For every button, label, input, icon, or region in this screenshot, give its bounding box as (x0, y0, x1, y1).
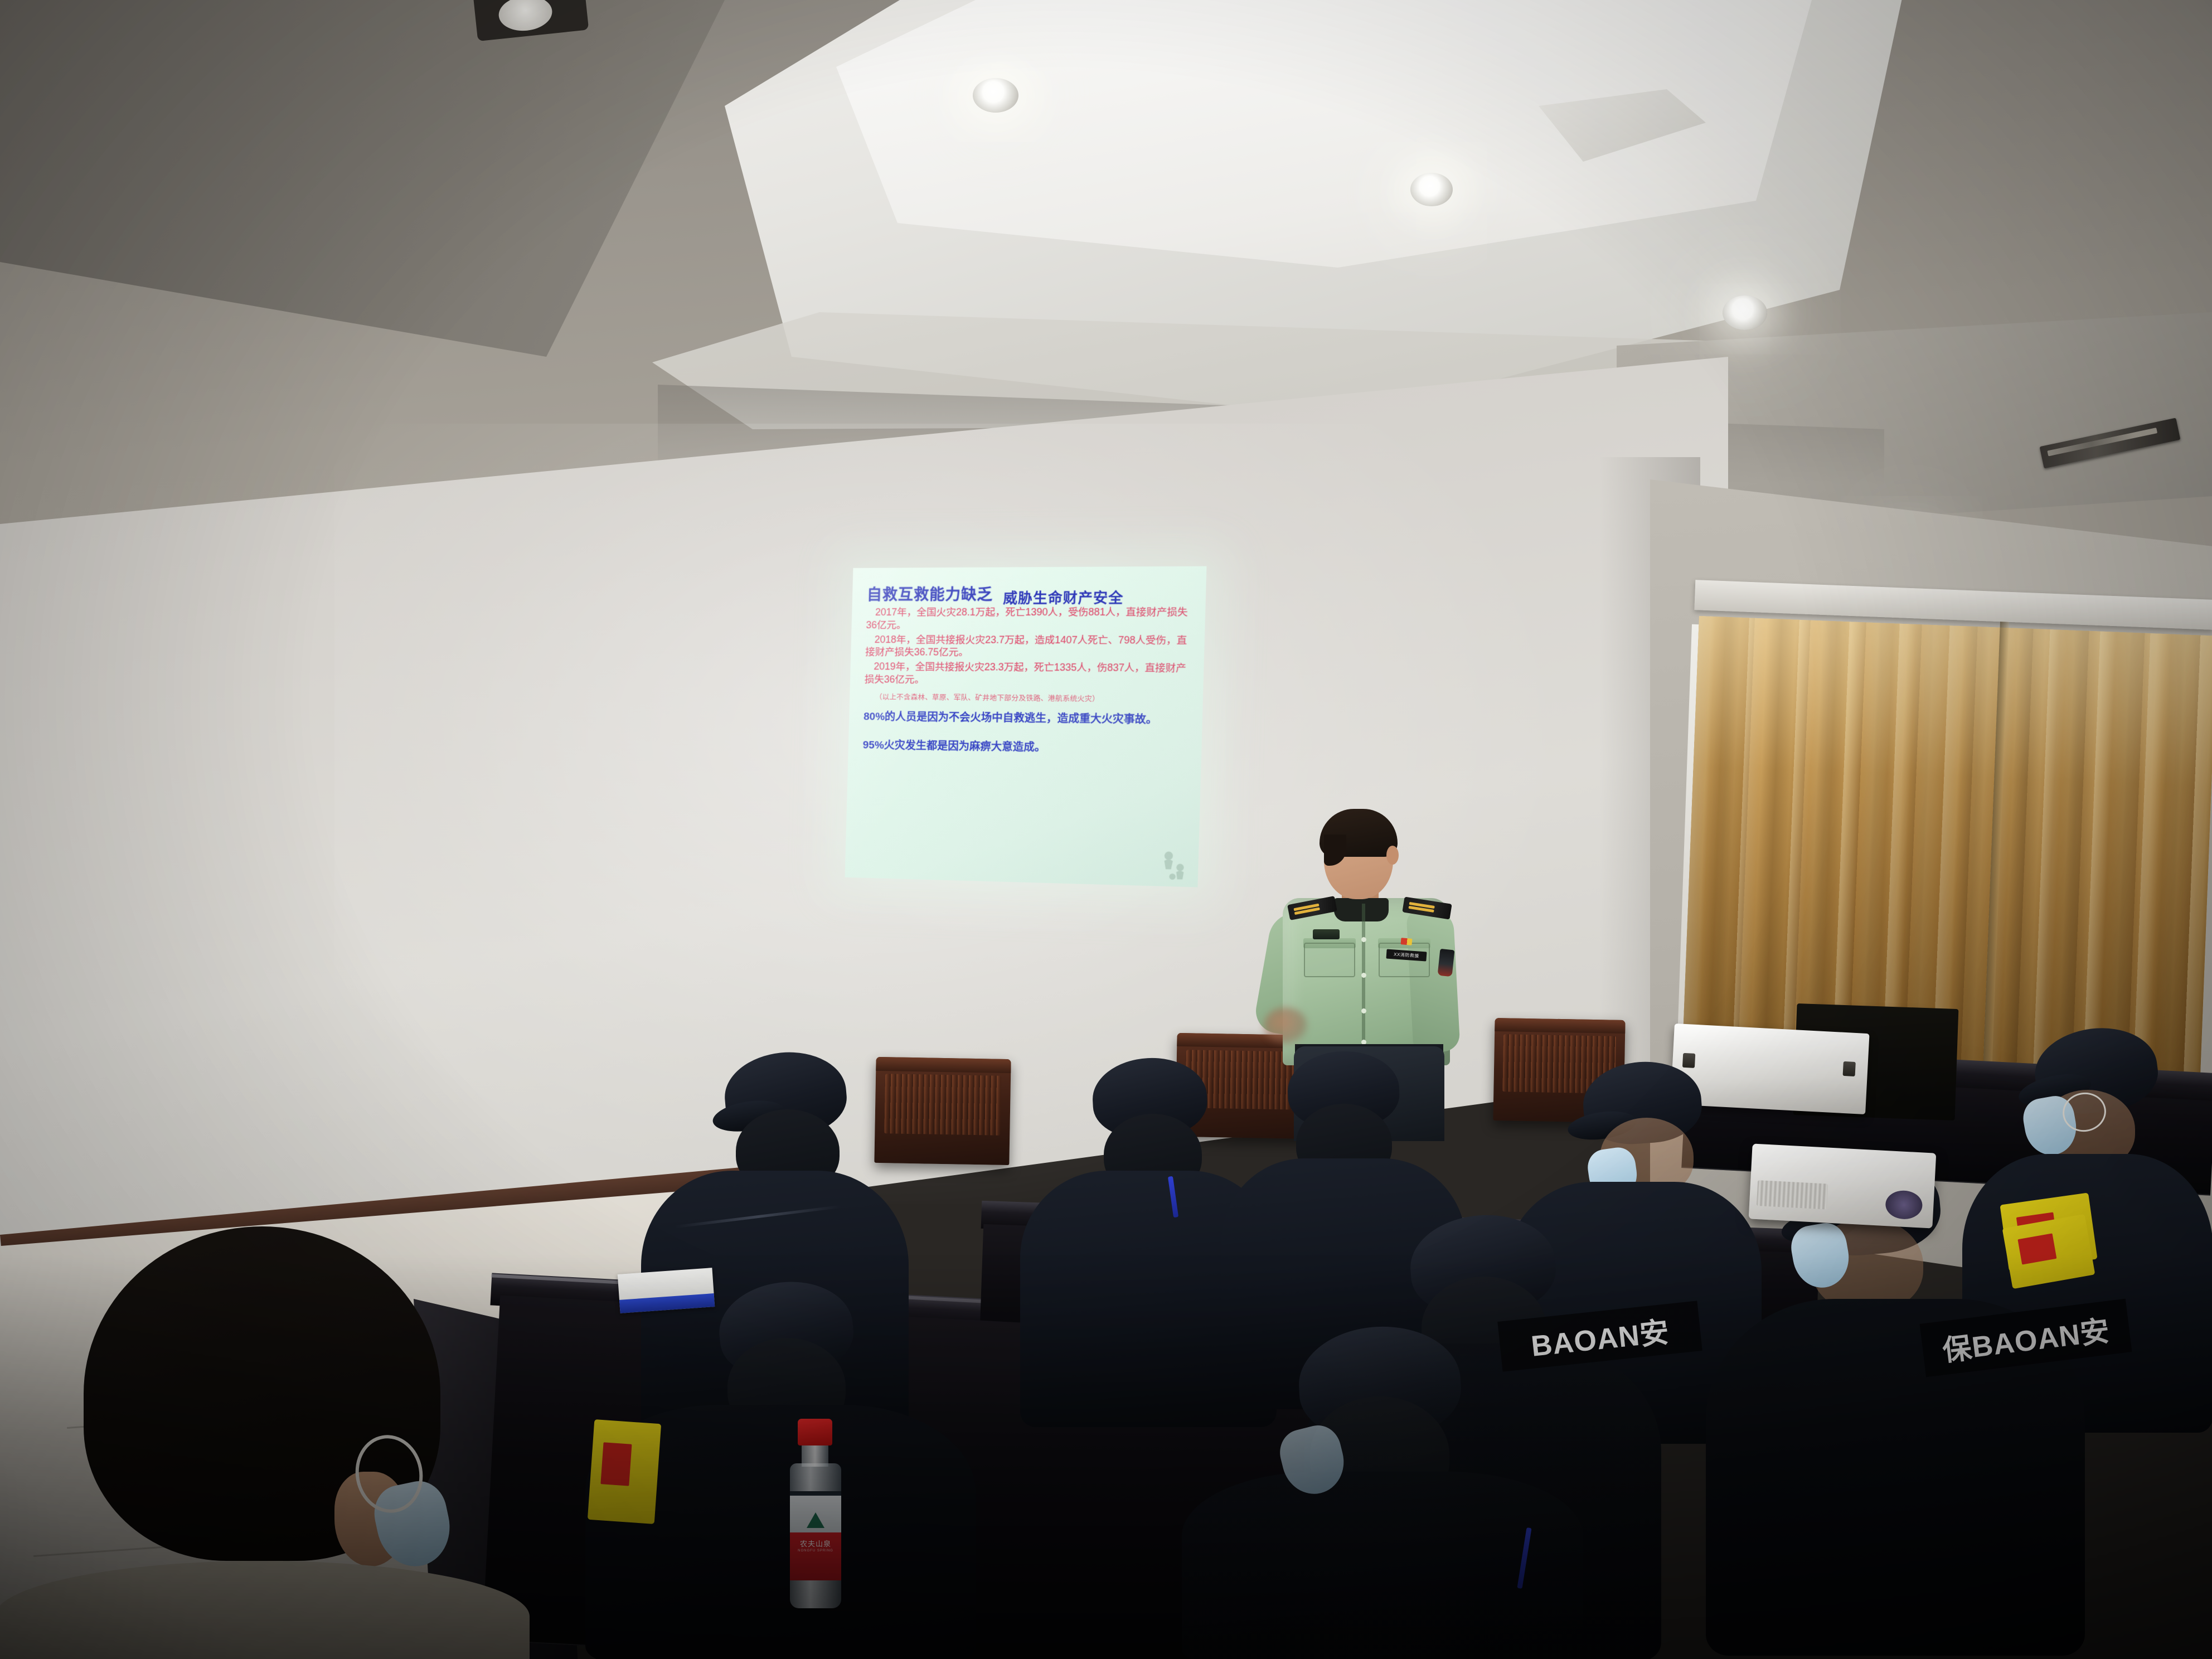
presenter-shirt-button (1361, 973, 1366, 978)
ceiling-downlight-3 (1723, 295, 1767, 330)
projected-slide: 自救互救能力缺乏 威胁生命财产安全 2017年，全国火灾28.1万起，死亡139… (845, 566, 1207, 887)
slide-bullet-2019: 2019年，全国共接报火灾23.3万起，死亡1335人，伤837人，直接财产损失… (865, 660, 1192, 688)
projector-vent-icon (1757, 1180, 1828, 1209)
slide-highlight-95: 95%火灾发生都是因为麻痹大意造成。 (862, 739, 1190, 758)
presenter-hair (1320, 809, 1398, 857)
slide-title-row: 自救互救能力缺乏 威胁生命财产安全 (867, 581, 1195, 604)
bottle-cap[interactable] (798, 1419, 832, 1445)
slide-highlight-80: 80%的人员是因为不会火场中自救逃生，造成重大火灾事故。 (864, 710, 1191, 727)
slide-title-left: 自救互救能力缺乏 (867, 582, 993, 604)
bottle-logo-icon (807, 1512, 824, 1528)
presenter-chest-badge (1313, 929, 1340, 939)
slide-footnote: （以上不含森林、草原、军队、矿井地下部分及铁路、港航系统火灾） (864, 691, 1191, 704)
presenter-right-arm (1406, 908, 1460, 1053)
projector-lens-icon (1885, 1190, 1923, 1220)
ceiling-downlight-2 (1410, 173, 1453, 206)
presenter-shirt-button (1361, 937, 1366, 942)
armband-emblem-icon (2017, 1234, 2056, 1265)
presenter-gesturing-hand (1264, 1007, 1307, 1044)
presenter-collar (1334, 898, 1389, 921)
training-room-scene: 自救互救能力缺乏 威胁生命财产安全 2017年，全国火灾28.1万起，死亡139… (0, 0, 2212, 1659)
chair-left[interactable] (874, 1057, 1011, 1165)
bottle-brand-en: NONGFU SPRING (790, 1549, 841, 1553)
case-latch (1682, 1053, 1695, 1068)
presenter-flag-pin-icon (1401, 938, 1413, 945)
armband-emblem-icon (601, 1442, 632, 1486)
bottle-neck (802, 1443, 828, 1467)
bottle-label-lower: 农夫山泉 NONGFU SPRING (790, 1532, 841, 1580)
ceiling-downlight-1 (973, 78, 1018, 113)
presenter-pocket (1304, 943, 1355, 977)
presenter-sleeve-patch-icon (1438, 949, 1455, 977)
case-latch (1843, 1061, 1856, 1076)
projector-device[interactable] (1749, 1143, 1937, 1228)
water-bottle[interactable]: 农夫山泉 NONGFU SPRING (783, 1419, 850, 1619)
notebook-on-desk[interactable] (618, 1268, 715, 1313)
slide-title-right: 威胁生命财产安全 (1003, 586, 1124, 607)
slide-bullet-2018: 2018年，全国共接报火灾23.7万起，造成1407人死亡、798人受伤，直接财… (865, 633, 1193, 660)
attendee-armband-left (588, 1419, 661, 1524)
slide-bullet-2017: 2017年，全国火灾28.1万起，死亡1390人，受伤881人，直接财产损失36… (866, 605, 1194, 632)
presenter-shirt-button (1361, 1008, 1366, 1013)
presenter-ear (1386, 846, 1399, 865)
bottle-brand-cn: 农夫山泉 (790, 1532, 841, 1548)
slide-watermark-logo (1156, 848, 1189, 882)
